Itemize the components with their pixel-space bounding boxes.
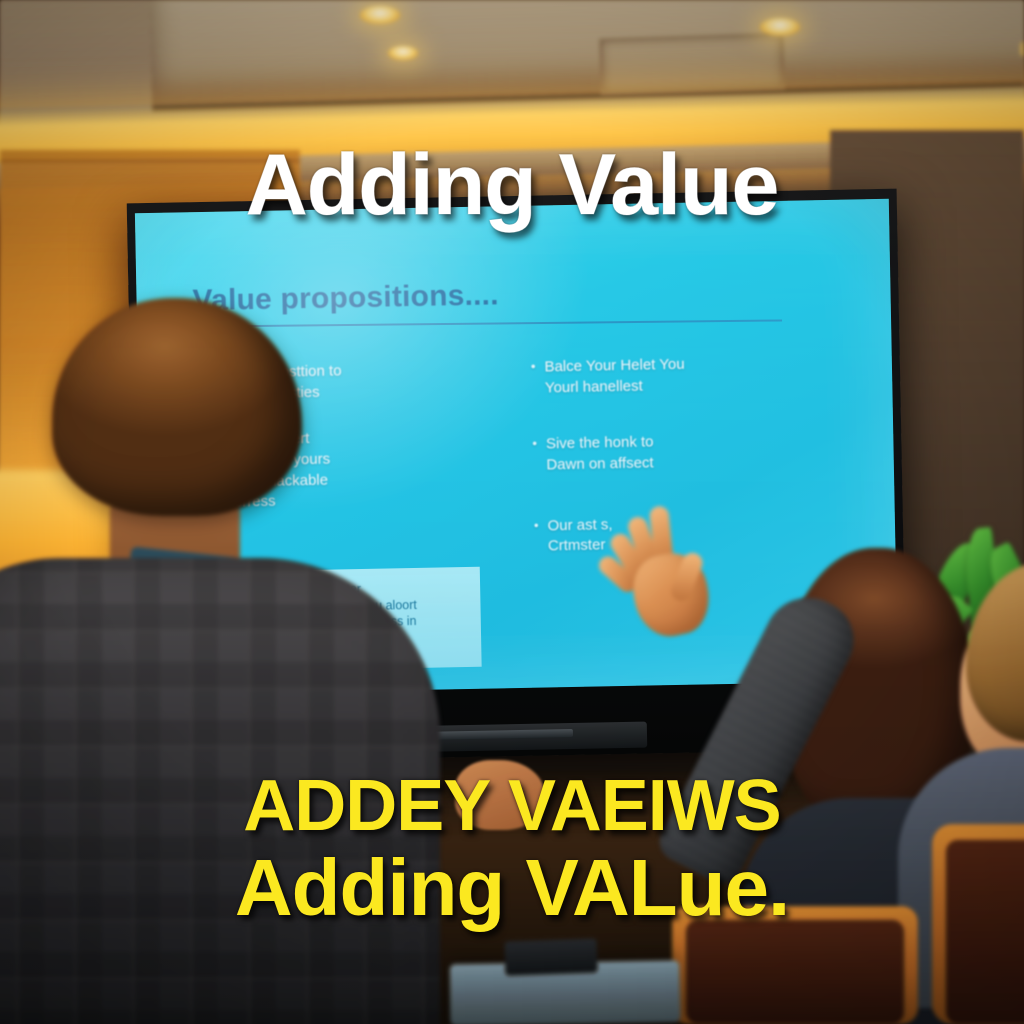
bullet-line: Sive the honk to (546, 433, 654, 456)
hand-icon (596, 499, 738, 651)
presentation-screenshot: Value propositions.... • Value Propostti… (0, 0, 1024, 1024)
bottom-caption-line-2: Adding VALue. (0, 847, 1024, 929)
bottom-caption: ADDEY VAEIWS Adding VALue. (0, 770, 1024, 929)
bullet-item: • Balce Your Helet You Yourl hanellest (531, 352, 835, 399)
bottom-caption-line-1: ADDEY VAEIWS (0, 770, 1024, 843)
chair-back (686, 920, 904, 1024)
bullet-line: Dawn on affsect (546, 453, 654, 476)
bullet-item: • Sive the honk to Dawn on affsect (532, 429, 836, 476)
bullet-line: Yourl hanellest (545, 375, 685, 398)
ceiling-light-strip (1020, 42, 1024, 56)
downlight-icon (360, 6, 400, 24)
downlight-icon (388, 46, 418, 60)
bullet-glyph: • (531, 358, 536, 399)
bullet-line: Balce Your Helet You (544, 355, 684, 378)
presenter-hair (52, 298, 302, 516)
top-caption: Adding Value (0, 142, 1024, 228)
downlight-icon (760, 18, 800, 36)
ceiling-vent (599, 33, 785, 95)
table-device (504, 938, 597, 975)
bullet-glyph: • (534, 516, 539, 557)
bullet-glyph: • (532, 435, 537, 476)
bullet-text: Balce Your Helet You Yourl hanellest (544, 355, 685, 399)
bullet-text: Sive the honk to Dawn on affsect (546, 433, 654, 476)
